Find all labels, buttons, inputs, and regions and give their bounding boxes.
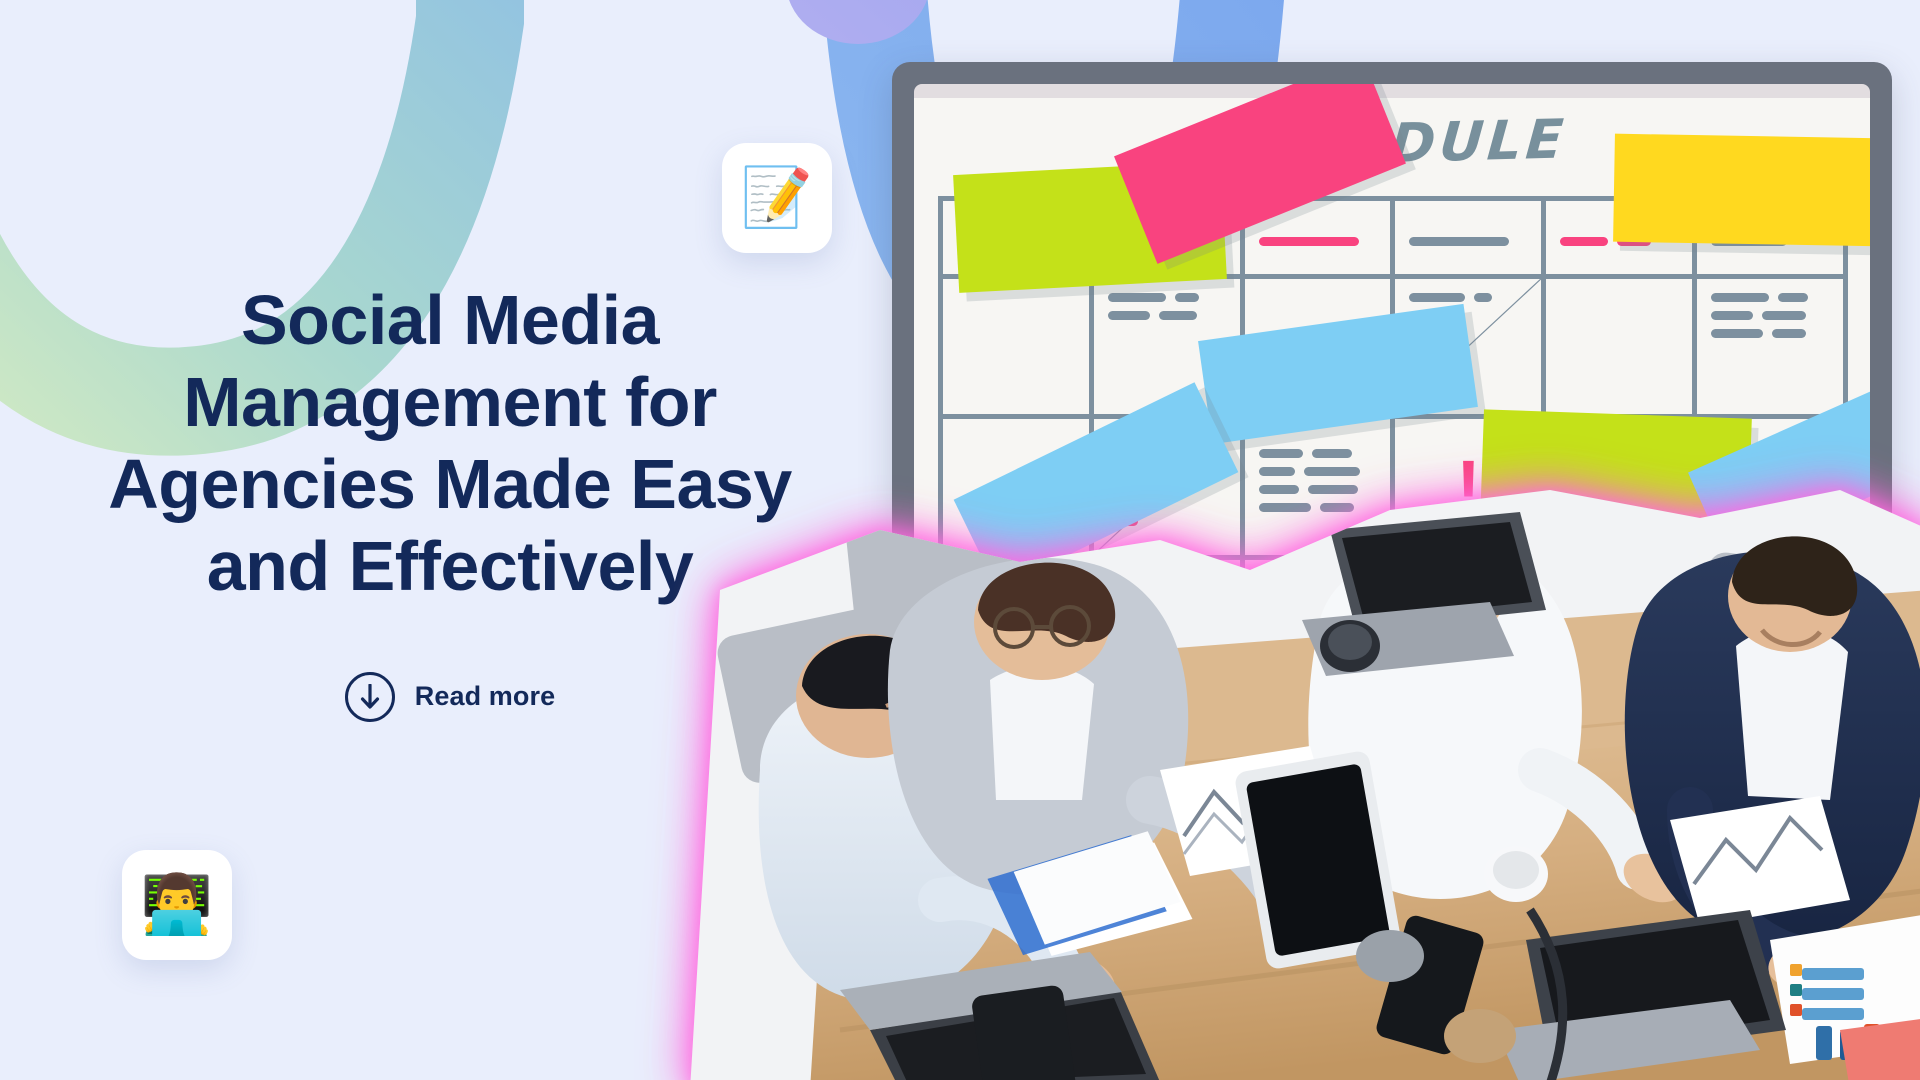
memo-pencil-emoji: 📝 [741, 169, 813, 227]
hero-banner: SCHEDULE [0, 0, 1920, 1080]
mouse-2 [1444, 1009, 1516, 1063]
grid-cell [1546, 279, 1697, 419]
read-more-button[interactable]: Read more [345, 672, 555, 722]
coffee-cup-white [1484, 846, 1548, 902]
mouse-1 [1356, 930, 1424, 982]
memo-card: 📝 [722, 143, 832, 253]
read-more-label: Read more [415, 681, 555, 712]
grid-cell [943, 279, 1094, 419]
team-meeting-photo [690, 470, 1920, 1080]
technologist-card: 👨‍💻 [122, 850, 232, 960]
sticky-note-yellow-1 [1613, 134, 1870, 247]
arrow-down-circle-icon[interactable] [345, 672, 395, 722]
grid-cell [1697, 279, 1848, 419]
man-technologist-emoji: 👨‍💻 [141, 876, 213, 934]
headline-line-2: Management for [40, 362, 860, 444]
coffee-cup-dark [1320, 620, 1380, 672]
photo-content [690, 470, 1920, 1080]
headline-line-1: Social Media [40, 280, 860, 362]
grid-cell [1395, 201, 1546, 279]
purple-blob [786, 0, 930, 44]
